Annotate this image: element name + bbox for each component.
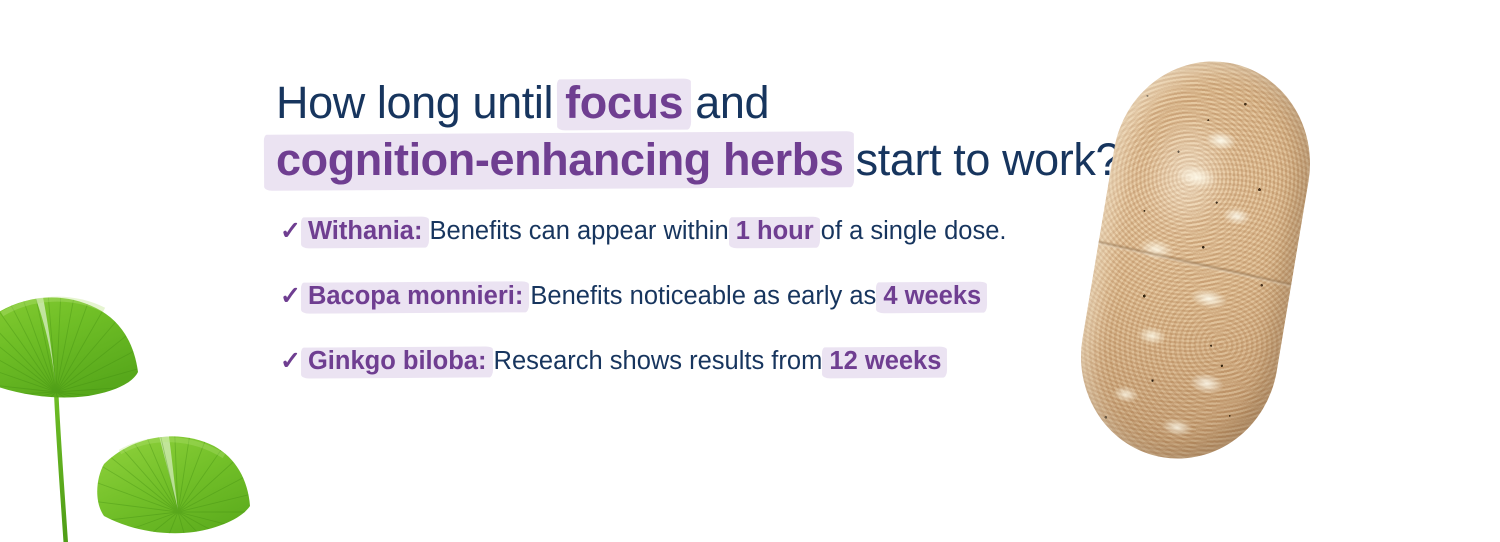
list-item: ✓Withania: Benefits can appear within 1 … [280,216,1120,281]
herb-name-ginkgo: Ginkgo biloba: [308,347,487,375]
tablet-gloss [1118,81,1258,266]
bullet-emphasis-duration: 4 weeks [883,282,981,310]
herb-name-withania: Withania: [308,217,423,245]
herb-name-bacopa: Bacopa monnieri: [308,282,523,310]
infographic-banner: How long until focus and cognition-enhan… [0,0,1500,542]
check-icon: ✓ [280,216,301,246]
headline-highlight-herbs: cognition-enhancing herbs [276,134,844,185]
bullet-text-before: Research shows results from [486,347,829,375]
tablet-image [1083,52,1315,472]
page-title: How long until focus and cognition-enhan… [276,78,1116,185]
bullet-text-before: Benefits noticeable as early as [523,282,883,310]
headline-block: How long until focus and cognition-enhan… [276,78,1116,185]
headline-line1-prefix: How long until [276,77,565,128]
list-item: ✓Ginkgo biloba: Research shows results f… [280,346,1120,411]
ginkgo-leaves-image [0,296,292,542]
ginkgo-leaf-small [84,416,262,542]
check-icon: ✓ [280,346,301,376]
benefit-list: ✓Withania: Benefits can appear within 1 … [280,216,1120,411]
bullet-emphasis-duration: 12 weeks [829,347,941,375]
list-item: ✓Bacopa monnieri: Benefits noticeable as… [280,281,1120,346]
check-icon: ✓ [280,281,301,311]
headline-line1-suffix: and [683,77,769,128]
bullet-text-after: of a single dose. [814,217,1007,245]
supplement-caplet [1065,46,1325,473]
bullet-text-before: Benefits can appear within [422,217,735,245]
bullet-emphasis-duration: 1 hour [736,217,814,245]
headline-line2-suffix: start to work? [844,134,1121,185]
headline-highlight-focus: focus [565,77,683,128]
